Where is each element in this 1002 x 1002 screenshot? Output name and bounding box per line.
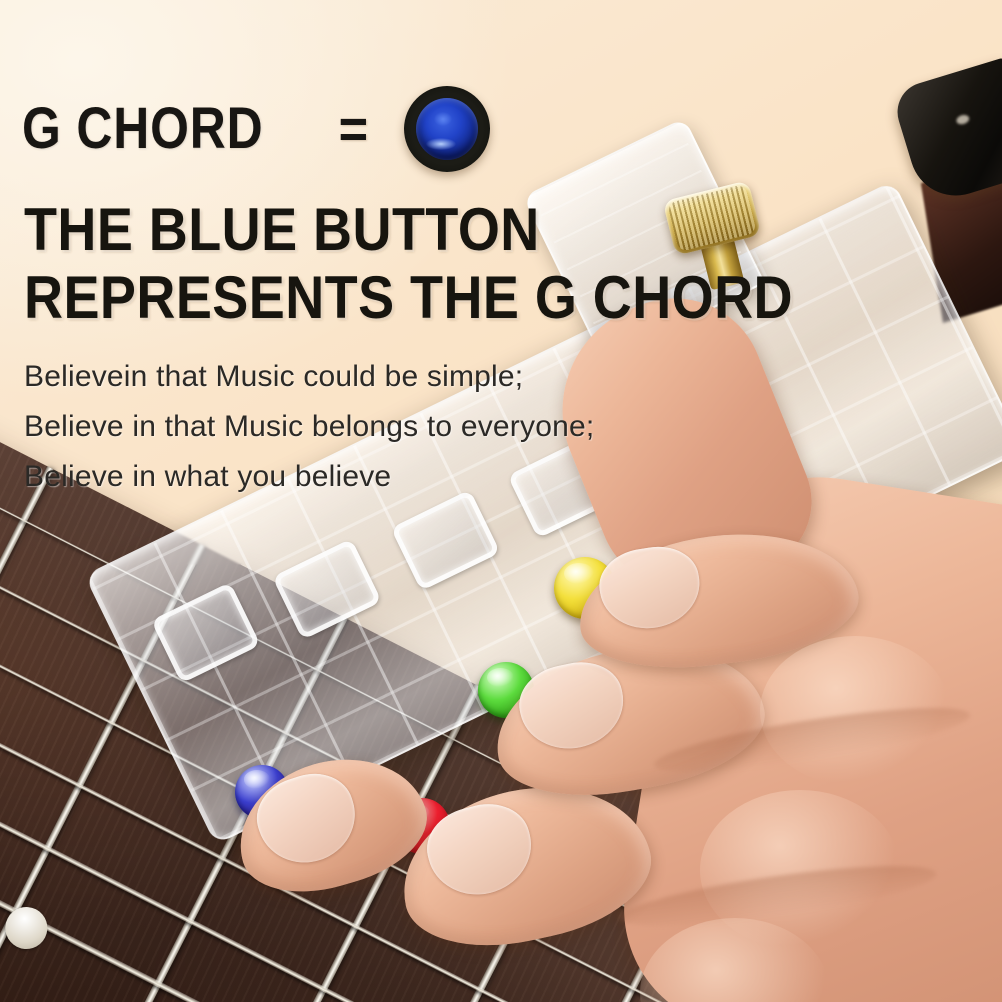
blue-button-inner (416, 98, 478, 160)
equals-sign: = (339, 101, 368, 157)
banner-stage: G CHORD = THE BLUE BUTTON REPRESENTS THE… (0, 0, 1002, 1002)
body-line-3: Believe in what you believe (24, 452, 594, 502)
subheadline-line-1: THE BLUE BUTTON (24, 196, 793, 264)
blue-button-highlight-top (434, 112, 452, 126)
subheadline-line-2: REPRESENTS THE G CHORD (24, 264, 793, 332)
chord-label: G CHORD (22, 100, 264, 158)
subheadline: THE BLUE BUTTON REPRESENTS THE G CHORD (24, 196, 793, 332)
body-line-2: Believe in that Music belongs to everyon… (24, 402, 594, 452)
text-overlay: G CHORD = THE BLUE BUTTON REPRESENTS THE… (0, 0, 1002, 1002)
body-copy: Believein that Music could be simple; Be… (24, 352, 594, 502)
blue-button-highlight (426, 138, 456, 150)
headline-row: G CHORD = (22, 86, 490, 172)
blue-round-button-icon (404, 86, 490, 172)
body-line-1: Believein that Music could be simple; (24, 352, 594, 402)
